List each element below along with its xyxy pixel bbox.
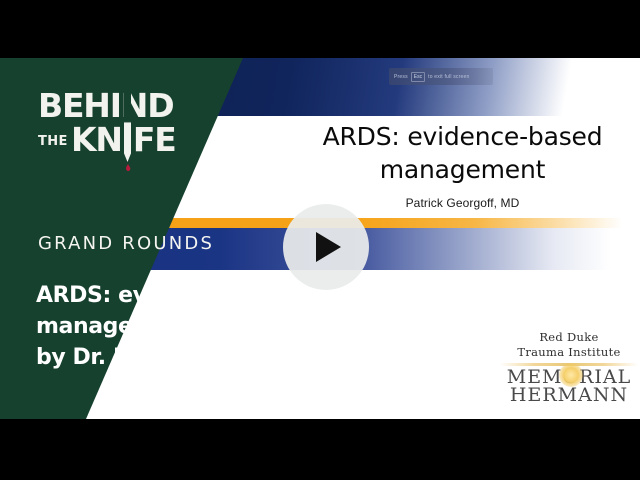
video-content-area: ARDS: evidence-based management Patrick … [0,58,640,419]
logo-word-knife: KNIFE [71,124,176,156]
blood-drop-icon [126,164,131,171]
logo-word-the: THE [38,134,68,149]
video-thumbnail-stage[interactable]: ARDS: evidence-based management Patrick … [0,0,640,480]
institution-name-line2: Trauma Institute [517,345,620,359]
play-button[interactable] [283,204,369,290]
logo-second-row: THE KNIFE [38,124,238,162]
esc-hint-prefix: Press [394,74,408,80]
exit-fullscreen-hint: Press Esc to exit full screen [389,68,493,85]
series-kicker: GRAND ROUNDS [38,233,214,254]
esc-hint-suffix: to exit full screen [428,74,469,80]
letterbox-bar-bottom [0,419,640,480]
institution-name-line1: Red Duke [539,330,598,344]
episode-headline: ARDS: evidence-based management, present… [36,280,356,373]
letterbox-bar-top [0,0,640,58]
slide-title: ARDS: evidence-based management [290,120,635,186]
knife-blade-icon [124,90,131,162]
esc-key-badge: Esc [411,72,425,82]
institution-name: Red Duke Trauma Institute [496,330,640,360]
memorial-hermann-wordmark: MEMORIAL HERMANN [496,368,640,404]
logo-word-behind: BEHIND [38,90,238,121]
institution-logo: Red Duke Trauma Institute MEMORIAL HERMA… [496,330,640,404]
play-triangle-icon [316,232,341,262]
behind-the-knife-logo: BEHIND THE KNIFE [38,90,238,180]
wordmark-line2: HERMANN [496,386,640,404]
